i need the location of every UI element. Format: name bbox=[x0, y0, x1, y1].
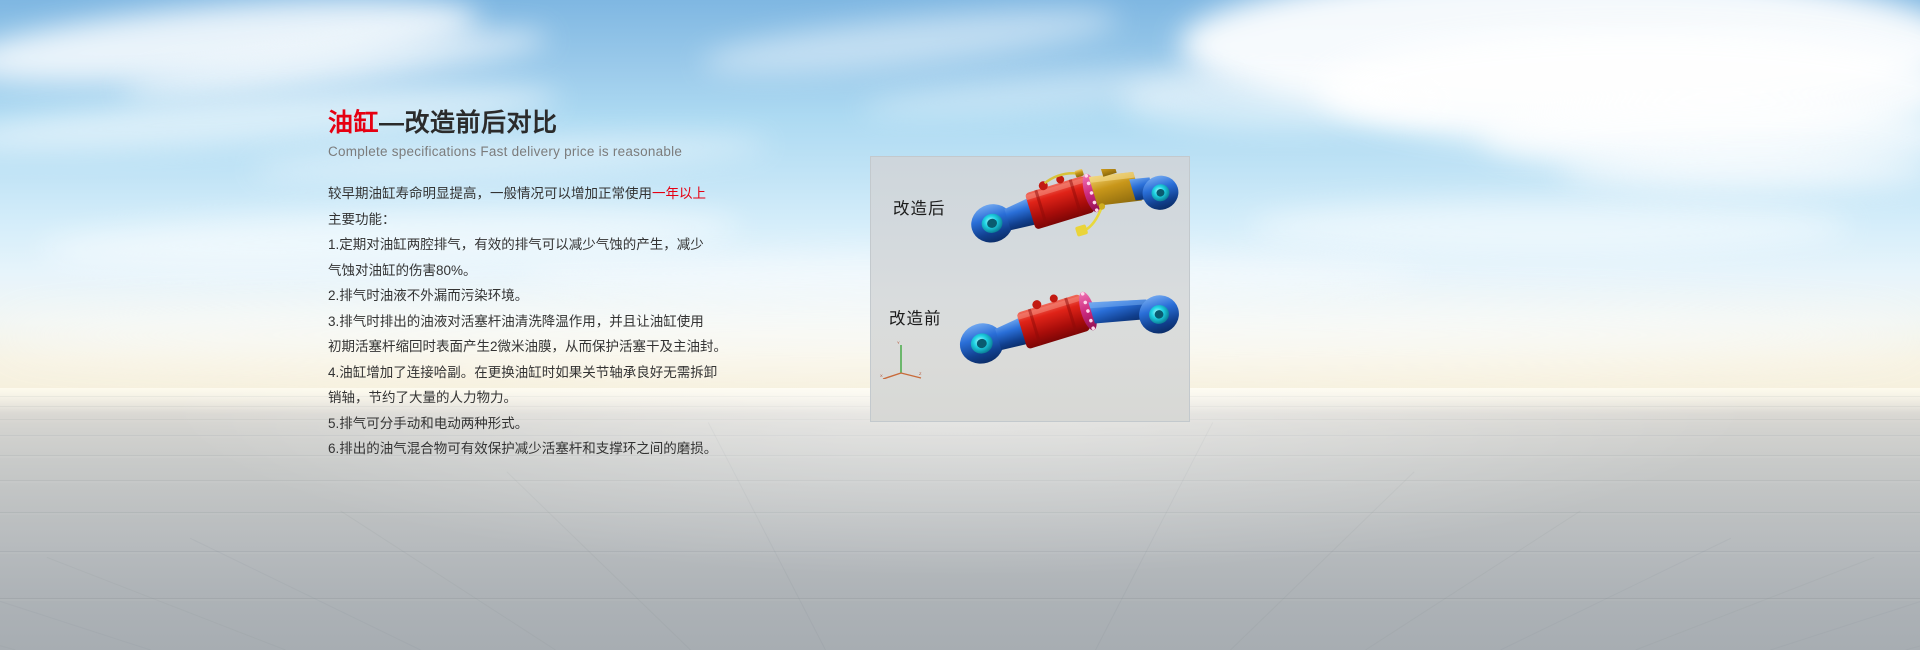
svg-text:X: X bbox=[880, 373, 883, 378]
axis-triad-icon: Y X Z bbox=[879, 339, 925, 379]
section-label: 主要功能： bbox=[328, 207, 848, 233]
feature-line: 6.排出的油气混合物可有效保护减少活塞杆和支撑环之间的磨损。 bbox=[328, 436, 848, 462]
title-rest: —改造前后对比 bbox=[379, 109, 558, 137]
cloud-wisp bbox=[699, 0, 1122, 86]
intro-highlight: 一年以上 bbox=[652, 186, 706, 201]
page-subtitle: Complete specifications Fast delivery pr… bbox=[328, 144, 848, 159]
svg-text:Z: Z bbox=[919, 371, 922, 376]
feature-line: 气蚀对油缸的伤害80%。 bbox=[328, 258, 848, 284]
plaza-ground bbox=[0, 388, 1920, 650]
title-highlight: 油缸 bbox=[328, 109, 379, 137]
label-before-modification: 改造前 bbox=[889, 305, 942, 329]
banner-text-block: 油缸—改造前后对比 Complete specifications Fast d… bbox=[328, 108, 848, 462]
cloud-wisp bbox=[1250, 200, 1850, 254]
feature-line: 3.排气时排出的油液对活塞杆油清洗降温作用，并且让油缸使用 bbox=[328, 309, 848, 335]
feature-line: 1.定期对油缸两腔排气，有效的排气可以减少气蚀的产生，减少 bbox=[328, 232, 848, 258]
feature-line: 2.排气时油液不外漏而污染环境。 bbox=[328, 283, 848, 309]
cad-comparison-panel: 改造后 改造前 Y X Z bbox=[870, 156, 1190, 422]
banner-stage: 油缸—改造前后对比 Complete specifications Fast d… bbox=[0, 0, 1920, 650]
ground-vignette bbox=[0, 388, 1920, 650]
feature-line: 初期活塞杆缩回时表面产生2微米油膜，从而保护活塞干及主油封。 bbox=[328, 334, 848, 360]
feature-line: 5.排气可分手动和电动两种形式。 bbox=[328, 411, 848, 437]
intro-line: 较早期油缸寿命明显提高，一般情况可以增加正常使用一年以上 bbox=[328, 181, 848, 207]
cylinder-before-modification bbox=[959, 285, 1185, 397]
feature-line: 4.油缸增加了连接哈副。在更换油缸时如果关节轴承良好无需拆卸 bbox=[328, 360, 848, 386]
cylinder-after-modification bbox=[969, 169, 1181, 273]
svg-text:Y: Y bbox=[897, 340, 900, 345]
intro-plain: 较早期油缸寿命明显提高，一般情况可以增加正常使用 bbox=[328, 186, 652, 201]
label-after-modification: 改造后 bbox=[893, 195, 946, 219]
feature-list: 较早期油缸寿命明显提高，一般情况可以增加正常使用一年以上 主要功能： 1.定期对… bbox=[328, 181, 848, 462]
feature-line: 销轴，节约了大量的人力物力。 bbox=[328, 385, 848, 411]
cloud-wisp bbox=[1560, 150, 1920, 194]
page-title: 油缸—改造前后对比 bbox=[328, 108, 848, 138]
